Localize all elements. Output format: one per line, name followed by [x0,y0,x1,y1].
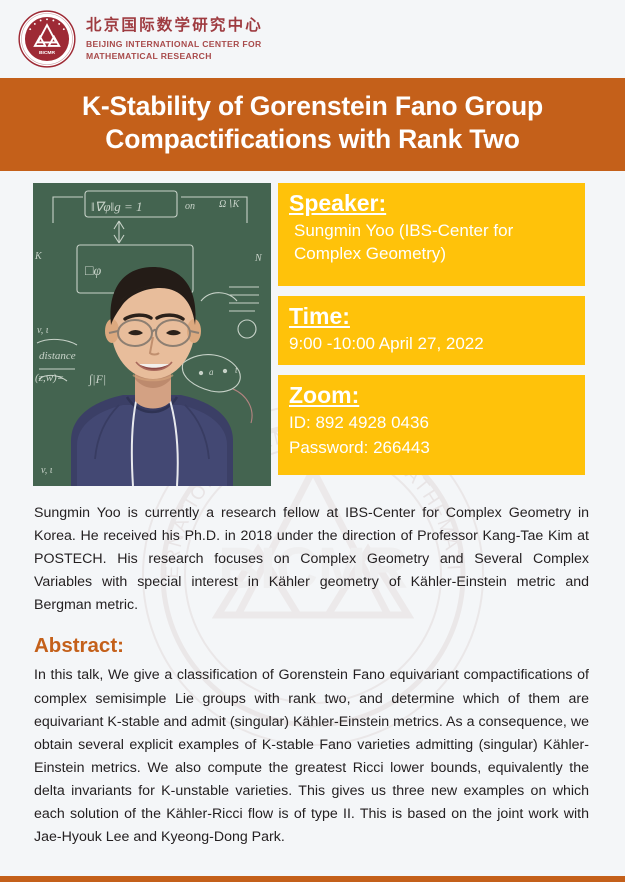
speaker-label: Speaker: [289,189,386,217]
bottom-accent-bar [0,876,625,882]
org-name-chinese: 北京国际数学研究中心 [86,17,263,35]
org-name-english-line2: MATHEMATICAL RESEARCH [86,51,263,61]
svg-text:v, ι: v, ι [41,465,53,476]
svg-text:distance: distance [39,350,76,362]
talk-title-line-1: K-Stability of Gorenstein Fano Group [30,90,595,123]
page-header: BICMR 北京国际数学研究中心 BEIJING INTERNATIONAL C… [0,0,625,78]
zoom-label: Zoom: [289,381,359,409]
speaker-value: Sungmin Yoo (IBS-Center for Complex Geom… [289,219,574,266]
speaker-bio: Sungmin Yoo is currently a research fell… [34,502,589,618]
speaker-section: ‖∇φ‖g = 1 on Ω∖K □φ K N v, ι distance (z… [0,171,625,486]
zoom-meeting-id: ID: 892 4928 0436 [289,411,574,434]
speaker-info-box: Speaker: Sungmin Yoo (IBS-Center for Com… [278,183,585,286]
svg-text:N: N [254,253,263,264]
svg-text:∫|F|: ∫|F| [88,372,106,386]
svg-text:K: K [34,251,43,262]
talk-title-line-2: Compactifications with Rank Two [30,123,595,156]
svg-text:on: on [185,201,195,212]
org-name-english-line1: BEIJING INTERNATIONAL CENTER FOR [86,39,263,49]
speaker-photo: ‖∇φ‖g = 1 on Ω∖K □φ K N v, ι distance (z… [33,183,271,486]
poster: INTERNATIONAL CENTER FOR MATHEMATICAL BI… [0,0,625,882]
zoom-info-box: Zoom: ID: 892 4928 0436 Password: 266443 [278,375,585,475]
svg-text:Ω∖K: Ω∖K [219,199,241,210]
time-info-box: Time: 9:00 -10:00 April 27, 2022 [278,296,585,365]
abstract-heading: Abstract: [34,634,589,658]
body-content: Sungmin Yoo is currently a research fell… [0,502,625,850]
svg-text:v, ι: v, ι [37,325,49,336]
svg-text:a: a [209,367,214,377]
info-column: Speaker: Sungmin Yoo (IBS-Center for Com… [278,183,585,486]
abstract-text: In this talk, We give a classification o… [34,664,589,849]
org-name-block: 北京国际数学研究中心 BEIJING INTERNATIONAL CENTER … [86,17,263,61]
bicmr-logo-icon: BICMR [18,10,76,68]
svg-text:(z,w)=: (z,w)= [35,372,64,384]
title-banner: K-Stability of Gorenstein Fano Group Com… [0,78,625,171]
time-label: Time: [289,302,350,330]
svg-text:BICMR: BICMR [39,50,56,56]
time-value: 9:00 -10:00 April 27, 2022 [289,332,574,355]
zoom-password: Password: 266443 [289,436,574,459]
svg-text:□φ: □φ [85,264,101,279]
svg-text:‖∇φ‖g = 1: ‖∇φ‖g = 1 [91,199,142,214]
